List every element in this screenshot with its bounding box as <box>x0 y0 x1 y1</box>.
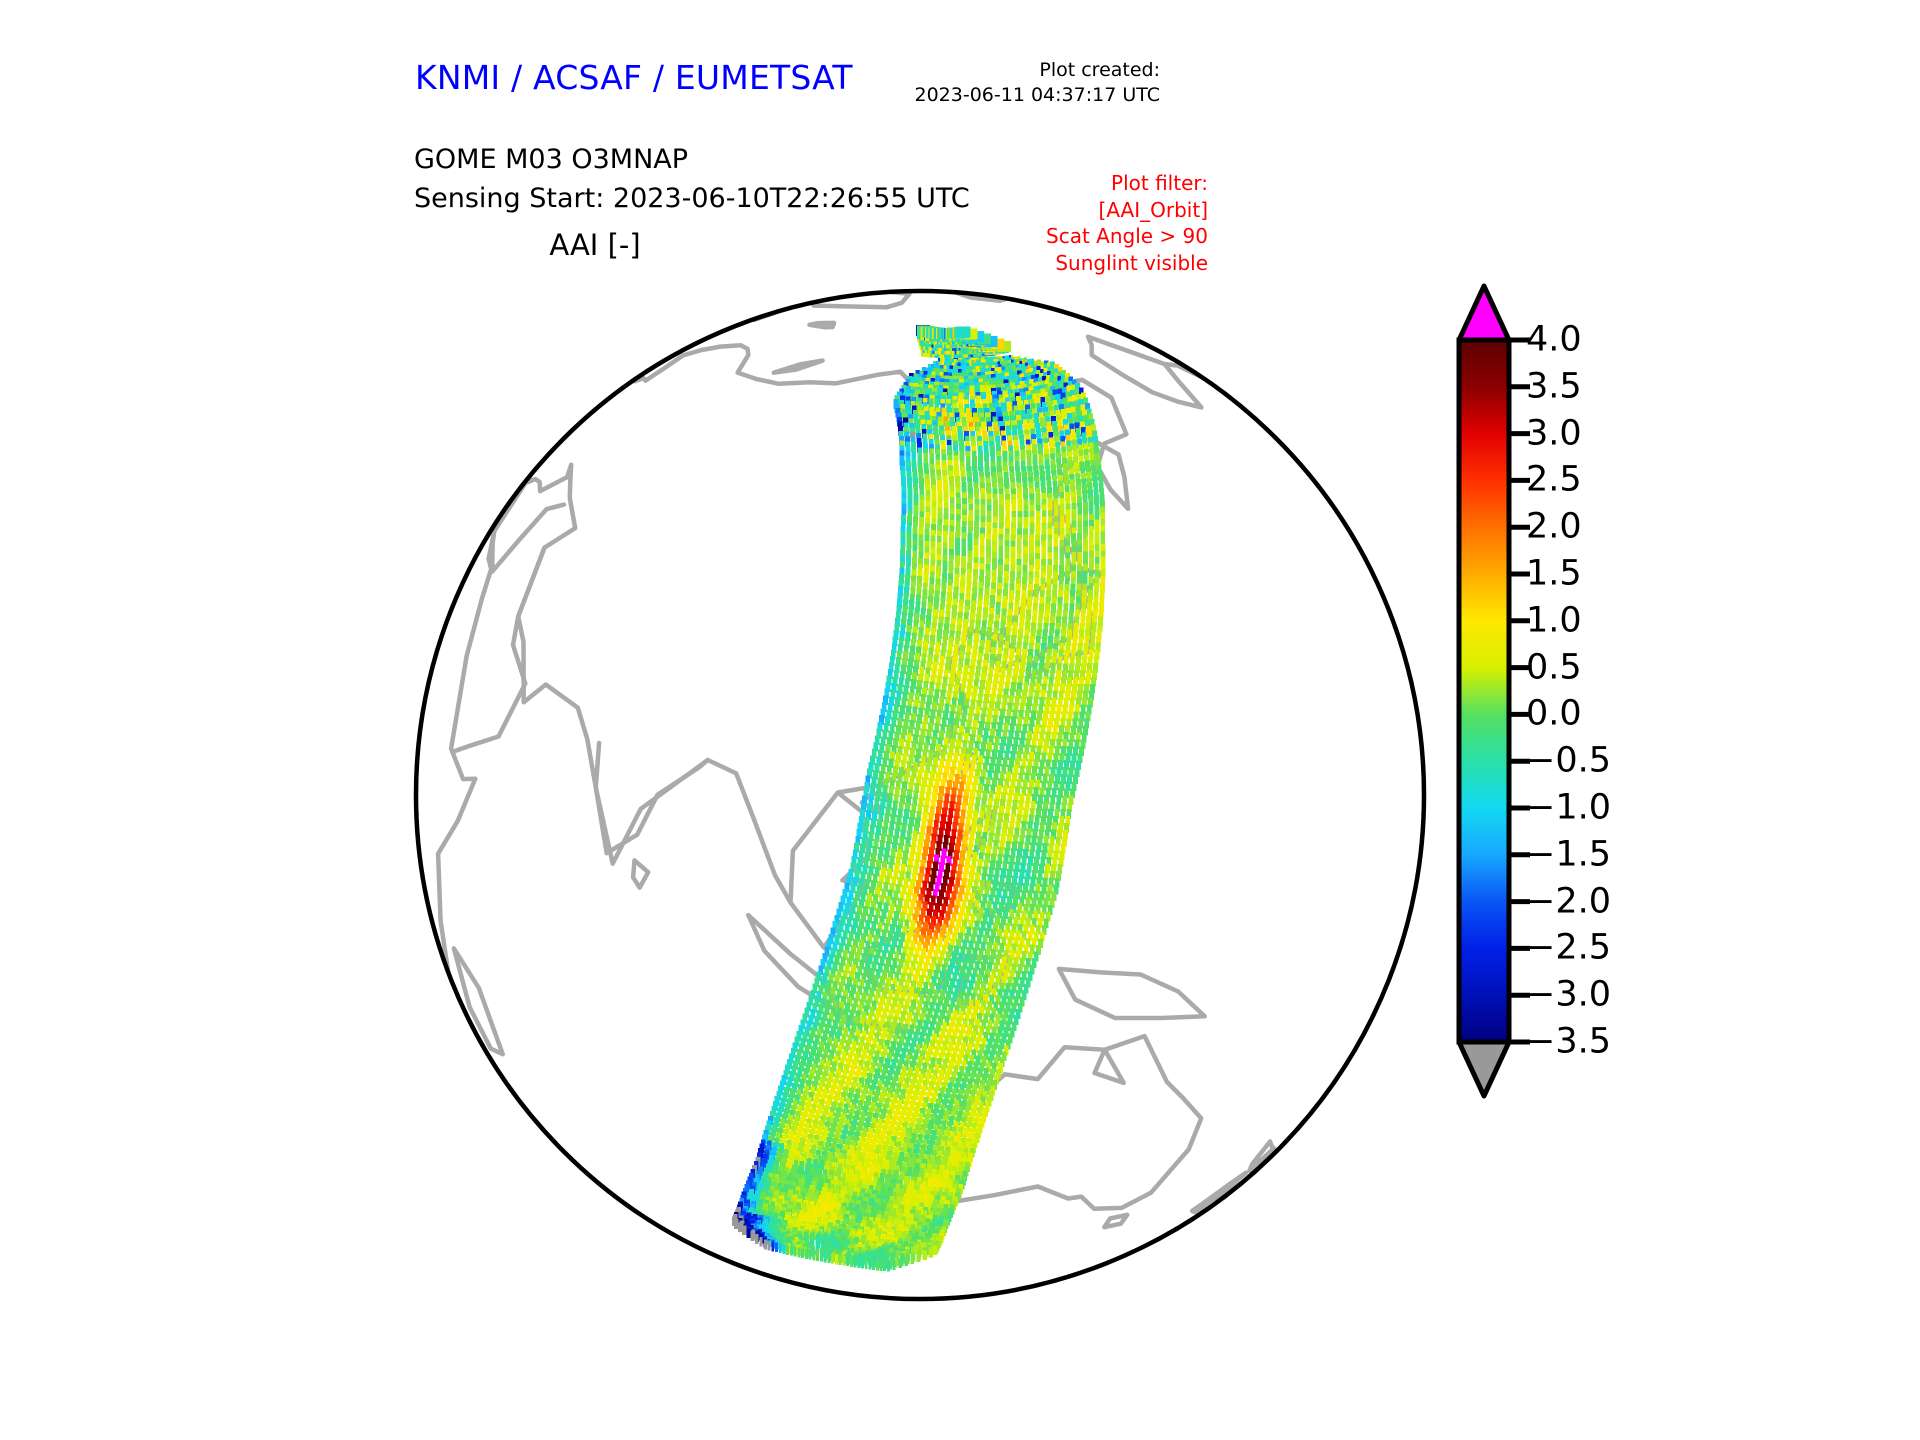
coastline-path <box>774 361 823 373</box>
coastline-path <box>633 860 648 887</box>
coastlines-group <box>438 292 1274 1227</box>
colorbar-under-arrow <box>1459 1042 1509 1096</box>
coastline-path <box>492 465 790 903</box>
colorbar-tick-label: −1.0 <box>1526 791 1611 826</box>
coastline-path <box>810 323 835 327</box>
colorbar-tick-label: −3.5 <box>1526 1025 1611 1060</box>
colorbar-tick-label: 4.0 <box>1526 323 1582 358</box>
colorbar-tick-label: −2.0 <box>1526 884 1611 919</box>
colorbar-tick-labels: 4.03.53.02.52.01.51.00.50.0−0.5−1.0−1.5−… <box>1498 280 1648 1040</box>
colorbar: 4.03.53.02.52.01.51.00.50.0−0.5−1.0−1.5−… <box>1434 280 1734 1100</box>
colorbar-tick-label: 3.5 <box>1526 369 1582 404</box>
coastline-path <box>635 345 748 381</box>
colorbar-tick-label: 1.0 <box>1526 603 1582 638</box>
colorbar-tick-label: 1.5 <box>1526 557 1582 592</box>
coastline-path <box>1059 969 1205 1018</box>
colorbar-tick-label: −3.0 <box>1526 978 1611 1013</box>
colorbar-tick-label: 2.5 <box>1526 463 1582 498</box>
swath-data-group <box>732 325 1106 1271</box>
colorbar-tick-label: −0.5 <box>1526 744 1611 779</box>
colorbar-tick-label: −2.5 <box>1526 931 1611 966</box>
coastline-path <box>1104 1215 1127 1227</box>
colorbar-tick-label: 2.0 <box>1526 510 1582 545</box>
coastline-path <box>1088 337 1201 408</box>
colorbar-tick-label: −1.5 <box>1526 837 1611 872</box>
coastline-path <box>438 474 531 970</box>
colorbar-tick-label: 3.0 <box>1526 416 1582 451</box>
colorbar-tick-label: 0.5 <box>1526 650 1582 685</box>
plot-canvas: KNMI / ACSAF / EUMETSAT Plot created: 20… <box>0 0 1920 1440</box>
colorbar-tick-label: 0.0 <box>1526 697 1582 732</box>
coastline-path <box>1192 1173 1246 1212</box>
